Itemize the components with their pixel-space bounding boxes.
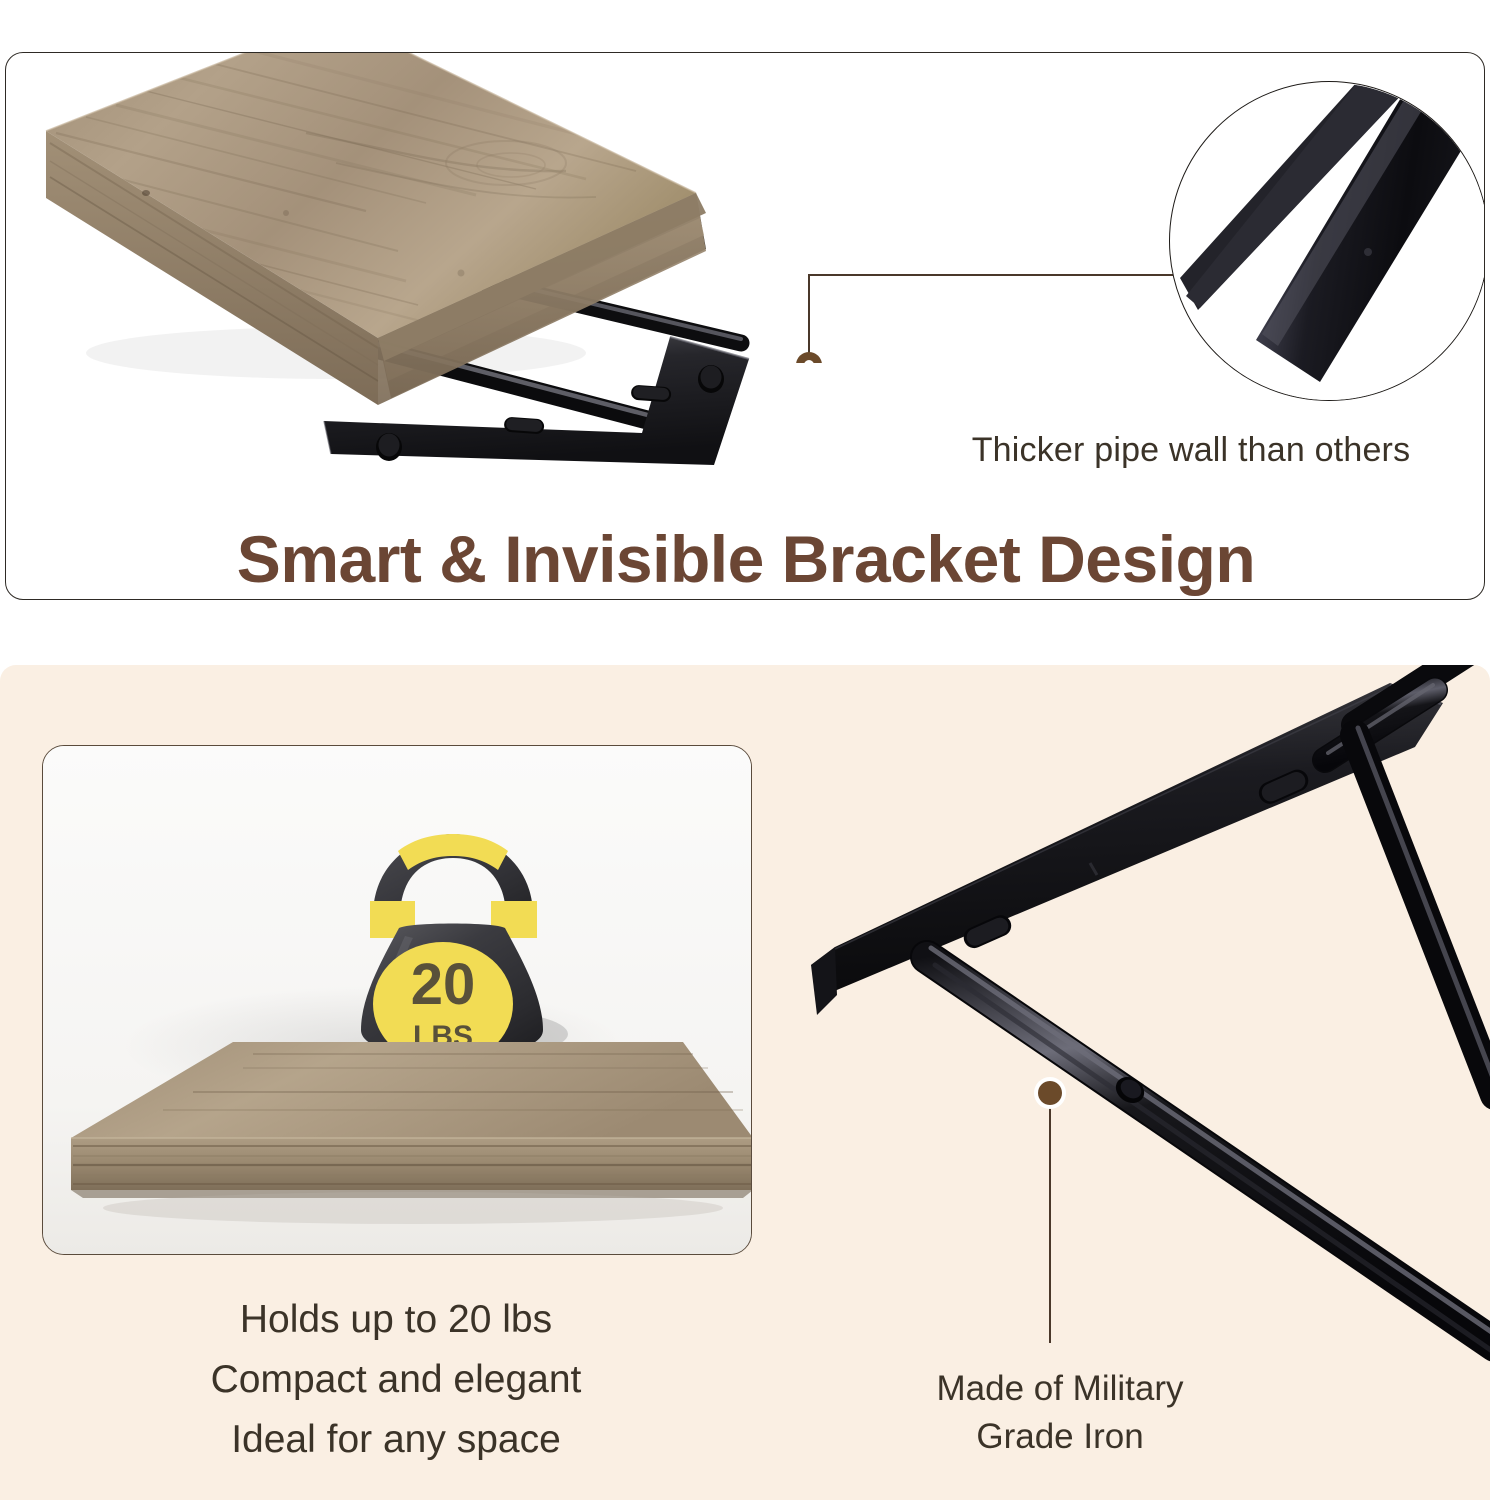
material-caption-line-0: Made of Military (845, 1365, 1275, 1413)
shelf-illustration (6, 52, 796, 493)
thicker-pipe-caption: Thicker pipe wall than others (911, 431, 1471, 470)
material-caption-line-1: Grade Iron (845, 1413, 1275, 1461)
kettlebell-weight-number: 20 (411, 952, 476, 1017)
material-caption: Made of Military Grade Iron (845, 1365, 1275, 1461)
bracket-design-panel: Thicker pipe wall than others Smart & In… (5, 52, 1485, 600)
durability-panel: 20 LBS (0, 665, 1490, 1500)
benefit-item-1: Compact and elegant (40, 1350, 752, 1410)
benefit-item-2: Ideal for any space (40, 1410, 752, 1470)
callout-leader-top (766, 253, 1196, 363)
benefit-item-0: Holds up to 20 lbs (40, 1290, 752, 1350)
benefits-list: Holds up to 20 lbs Compact and elegant I… (40, 1290, 752, 1470)
kettlebell-product-card: 20 LBS (42, 745, 752, 1255)
iron-bracket-illustration (795, 665, 1490, 1365)
page-title: Smart & Invisible Bracket Design (6, 521, 1485, 597)
pipe-wall-zoom-circle (1169, 81, 1485, 401)
